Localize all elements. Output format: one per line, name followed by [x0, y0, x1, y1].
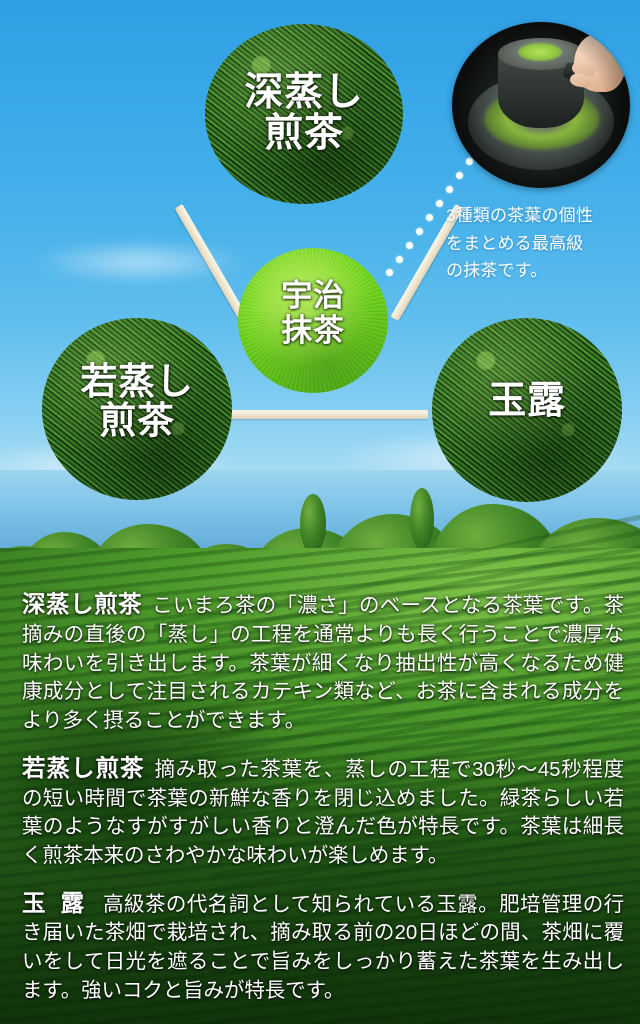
tea-section-gyokuro: 玉露高級茶の代名詞として知られている玉露。肥培管理の行き届いた茶畑で栽培され、摘… [22, 887, 624, 1006]
tea-pile-gyokuro: 玉露 [432, 318, 622, 502]
tea-paragraph: 若蒸し煎茶摘み取った茶葉を、蒸しの工程で30秒〜45秒程度の短い時間で茶葉の新鮮… [22, 752, 624, 871]
leaf-texture [432, 318, 622, 502]
leaf-texture [42, 318, 232, 500]
tea-body-gyokuro: 高級茶の代名詞として知られている玉露。肥培管理の行き届いた茶畑で栽培され、摘み取… [22, 893, 624, 1002]
tea-pile-fukamushi-sencha: 深蒸し 煎茶 [205, 24, 403, 204]
tea-descriptions: 深蒸し煎茶こいまろ茶の「濃さ」のベースとなる茶葉です。茶摘みの直後の「蒸し」の工… [0, 588, 640, 1006]
tea-section-wakamushi-sencha: 若蒸し煎茶摘み取った茶葉を、蒸しの工程で30秒〜45秒程度の短い時間で茶葉の新鮮… [22, 752, 624, 871]
tea-heading-fukamushi-sencha: 深蒸し煎茶 [22, 591, 142, 617]
tea-pile-uji-matcha: 宇治 抹茶 [238, 248, 388, 393]
tea-paragraph: 玉露高級茶の代名詞として知られている玉露。肥培管理の行き届いた茶畑で栽培され、摘… [22, 887, 624, 1006]
photo-vignette [452, 22, 630, 188]
stone-mill-photo [452, 22, 630, 188]
tea-heading-wakamushi-sencha: 若蒸し煎茶 [22, 755, 145, 781]
tea-pile-wakamushi-sencha: 若蒸し 煎茶 [42, 318, 232, 500]
tea-paragraph: 深蒸し煎茶こいまろ茶の「濃さ」のベースとなる茶葉です。茶摘みの直後の「蒸し」の工… [22, 588, 624, 736]
tea-infographic-page: 深蒸し 煎茶 若蒸し 煎茶 玉露 宇治 抹茶 3種類の茶葉の個性 をまとめる最高… [0, 0, 640, 1024]
leaf-texture [205, 24, 403, 204]
tea-section-fukamushi-sencha: 深蒸し煎茶こいまろ茶の「濃さ」のベースとなる茶葉です。茶摘みの直後の「蒸し」の工… [22, 588, 624, 736]
tea-heading-gyokuro: 玉露 [22, 890, 99, 916]
matcha-callout-text: 3種類の茶葉の個性 をまとめる最高級 の抹茶です。 [446, 202, 636, 285]
matcha-powder-texture [238, 248, 388, 393]
